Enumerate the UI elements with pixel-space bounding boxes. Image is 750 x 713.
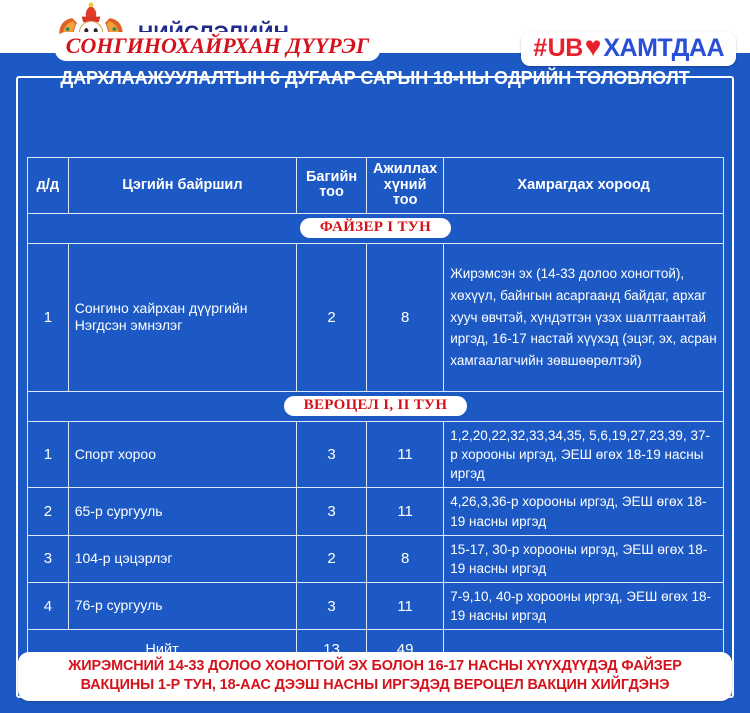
- column-header-team-count-line1: Багийн: [306, 169, 357, 185]
- section-banner-cell-verocel: ВЕРОЦЕЛ I, II ТУН: [28, 391, 724, 421]
- section-badge-verocel: ВЕРОЦЕЛ I, II ТУН: [284, 396, 468, 416]
- cell-khoroos: Жирэмсэн эх (14-33 долоо хоногтой), хөхү…: [444, 243, 724, 391]
- title-line-2: ДАРХЛААЖУУЛАЛТЫН 6 ДУГААР САРЫН 18-НЫ ӨД…: [24, 68, 726, 89]
- cell-khoroos: 1,2,20,22,32,33,34,35, 5,6,19,27,23,39, …: [444, 421, 724, 487]
- cell-team-count: 3: [297, 583, 367, 630]
- cell-team-count: 3: [297, 421, 367, 487]
- column-header-khoroos: Хамрагдах хороод: [444, 158, 724, 214]
- table-row: 1 Спорт хороо 3 11 1,2,20,22,32,33,34,35…: [28, 421, 724, 487]
- poster-root: НИЙСЛЭЛИЙН ОНЦГОЙ КОМИСС # UB ♥ ХАМТДАА …: [0, 0, 750, 713]
- column-header-no: д/д: [28, 158, 69, 214]
- table-row: 4 76-р сургууль 3 11 7-9,10, 40-р хороон…: [28, 583, 724, 630]
- cell-team-count: 2: [297, 535, 367, 582]
- hashtag-ub-text: UB: [548, 34, 583, 63]
- cell-no: 1: [28, 421, 69, 487]
- cell-staff-count: 8: [367, 535, 444, 582]
- table-header-row: д/д Цэгийн байршил Багийн тоо Ажиллах хү…: [28, 158, 724, 214]
- cell-staff-count: 8: [367, 243, 444, 391]
- cell-no: 2: [28, 488, 69, 535]
- vaccination-plan-table: д/д Цэгийн байршил Багийн тоо Ажиллах хү…: [27, 157, 724, 670]
- cell-khoroos: 4,26,3,36-р хорооны иргэд, ЭЕШ өгөх 18-1…: [444, 488, 724, 535]
- cell-staff-count: 11: [367, 488, 444, 535]
- cell-staff-count: 11: [367, 421, 444, 487]
- cell-no: 4: [28, 583, 69, 630]
- section-banner-row-pfizer: ФАЙЗЕР I ТУН: [28, 213, 724, 243]
- cell-location: 104-р цэцэрлэг: [68, 535, 296, 582]
- table-header: д/д Цэгийн байршил Багийн тоо Ажиллах хү…: [28, 158, 724, 214]
- column-header-staff-count-line2: хүний тоо: [384, 177, 427, 209]
- column-header-staff-count-line1: Ажиллах: [373, 161, 437, 177]
- section-banner-row-verocel: ВЕРОЦЕЛ I, II ТУН: [28, 391, 724, 421]
- column-header-location: Цэгийн байршил: [68, 158, 296, 214]
- table-row: 2 65-р сургууль 3 11 4,26,3,36-р хорооны…: [28, 488, 724, 535]
- footer-line-2: ВАКЦИНЫ 1-Р ТУН, 18-ААС ДЭЭШ НАСНЫ ИРГЭД…: [24, 676, 726, 695]
- cell-team-count: 2: [297, 243, 367, 391]
- cell-team-count: 3: [297, 488, 367, 535]
- cell-location: Спорт хороо: [68, 421, 296, 487]
- hashtag-prefix: #: [533, 34, 546, 63]
- footer-notice-banner: ЖИРЭМСНИЙ 14-33 ДОЛОО ХОНОГТОЙ ЭХ БОЛОН …: [18, 652, 732, 701]
- cell-khoroos: 15-17, 30-р хорооны иргэд, ЭЕШ өгөх 18-1…: [444, 535, 724, 582]
- cell-staff-count: 11: [367, 583, 444, 630]
- district-badge: СОНГИНОХАЙРХАН ДҮҮРЭГ: [55, 32, 380, 61]
- hashtag-badge: # UB ♥ ХАМТДАА: [521, 32, 736, 66]
- cell-no: 1: [28, 243, 69, 391]
- cell-no: 3: [28, 535, 69, 582]
- cell-location: 65-р сургууль: [68, 488, 296, 535]
- heart-icon: ♥: [585, 36, 602, 58]
- column-header-team-count-line2: тоо: [319, 184, 344, 200]
- hashtag-word: ХАМТДАА: [603, 34, 724, 63]
- column-header-staff-count: Ажиллах хүний тоо: [367, 158, 444, 214]
- section-banner-cell-pfizer: ФАЙЗЕР I ТУН: [28, 213, 724, 243]
- section-badge-pfizer: ФАЙЗЕР I ТУН: [300, 218, 451, 238]
- cell-location: Сонгино хайрхан дүүргийн Нэгдсэн эмнэлэг: [68, 243, 296, 391]
- table-row: 1 Сонгино хайрхан дүүргийн Нэгдсэн эмнэл…: [28, 243, 724, 391]
- cell-location: 76-р сургууль: [68, 583, 296, 630]
- column-header-team-count: Багийн тоо: [297, 158, 367, 214]
- table-body: ФАЙЗЕР I ТУН 1 Сонгино хайрхан дүүргийн …: [28, 213, 724, 669]
- cell-khoroos: 7-9,10, 40-р хорооны иргэд, ЭЕШ өгөх 18-…: [444, 583, 724, 630]
- table-row: 3 104-р цэцэрлэг 2 8 15-17, 30-р хорооны…: [28, 535, 724, 582]
- footer-line-1: ЖИРЭМСНИЙ 14-33 ДОЛОО ХОНОГТОЙ ЭХ БОЛОН …: [24, 657, 726, 676]
